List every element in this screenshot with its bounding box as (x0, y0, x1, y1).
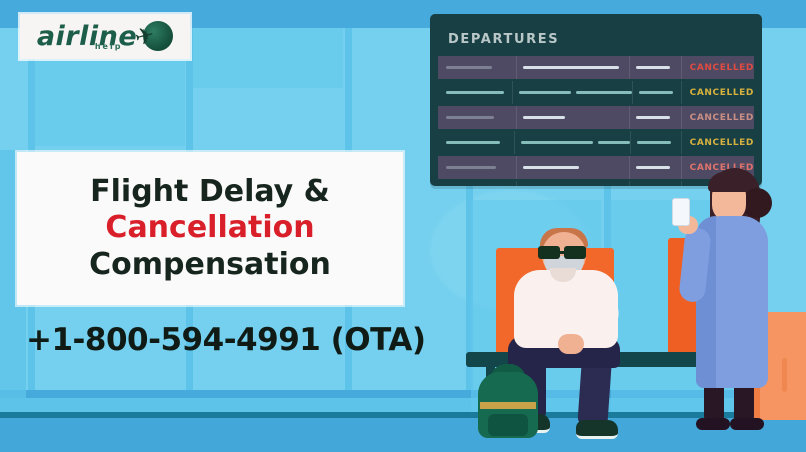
man-right-shoe (576, 420, 618, 439)
row-destination-cell (514, 131, 630, 154)
row-destination-cell (516, 106, 629, 129)
row-flight-cell (438, 131, 514, 154)
row-time-cell (632, 81, 681, 104)
suitcase-stripe (782, 358, 787, 392)
promo-banner: DEPARTURES CANCELLED (0, 0, 806, 452)
contact-phone-number[interactable]: +1-800-594-4991 (OTA) (26, 322, 426, 358)
status-badge: CANCELLED (690, 88, 754, 98)
departures-row: CANCELLED (438, 56, 754, 79)
green-backpack (478, 364, 538, 438)
row-flight-cell (438, 81, 512, 104)
row-flight-cell (438, 181, 516, 186)
window-panel-tint (193, 28, 343, 88)
row-status-cell: CANCELLED (681, 81, 754, 104)
row-status-cell: CANCELLED (681, 56, 754, 79)
man-hand (558, 334, 584, 354)
departures-board: DEPARTURES CANCELLED (430, 14, 762, 186)
brand-tagline: help (95, 42, 123, 51)
row-flight-cell (438, 106, 516, 129)
departures-board-title: DEPARTURES (448, 32, 559, 47)
row-status-cell: CANCELLED (681, 106, 754, 129)
status-badge: CANCELLED (690, 138, 754, 148)
smartphone-icon (672, 198, 690, 226)
row-flight-cell (438, 56, 516, 79)
headline-line-1: Flight Delay & (90, 174, 330, 211)
row-destination-cell (516, 56, 629, 79)
woman-left-shoe (696, 418, 730, 430)
brand-logo[interactable]: airline help ✈ (20, 14, 190, 59)
woman-fringe (708, 172, 750, 192)
status-badge: CANCELLED (690, 63, 754, 73)
status-badge: CANCELLED (690, 113, 754, 123)
sunglasses-icon (538, 246, 590, 259)
backpack-pocket (488, 414, 528, 436)
row-destination-cell (516, 181, 629, 186)
woman-hair-bun (742, 188, 772, 218)
departures-row: CANCELLED (438, 106, 754, 129)
row-time-cell (629, 56, 680, 79)
standing-passenger-illustration (686, 168, 782, 430)
headline-card: Flight Delay & Cancellation Compensation (17, 152, 403, 305)
row-status-cell: CANCELLED (681, 131, 754, 154)
row-time-cell (629, 181, 680, 186)
airplane-globe-icon: ✈ (133, 17, 173, 57)
headline-line-3: Compensation (89, 247, 331, 284)
departures-row-list: CANCELLED CANCELLED (438, 56, 754, 186)
row-time-cell (630, 131, 680, 154)
departures-row: CANCELLED (438, 131, 754, 154)
headline-line-2: Cancellation (105, 210, 314, 247)
departures-row: CANCELLED (438, 81, 754, 104)
backpack-strap (480, 402, 536, 409)
row-time-cell (629, 156, 680, 179)
row-flight-cell (438, 156, 516, 179)
row-destination-cell (516, 156, 629, 179)
row-destination-cell (512, 81, 632, 104)
woman-right-shoe (730, 418, 764, 430)
row-time-cell (629, 106, 680, 129)
